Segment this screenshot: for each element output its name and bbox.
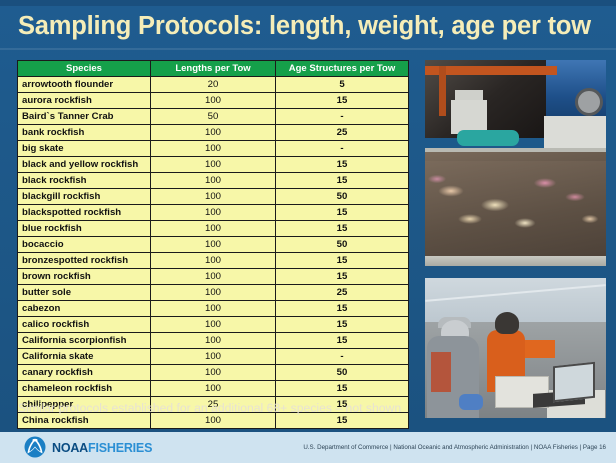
cell-species: black rockfish [18,173,151,189]
footer-meta-text: U.S. Department of Commerce | National O… [303,444,606,451]
cell-lengths-per-tow: 100 [151,301,276,317]
table-row: bronzespotted rockfish10015 [18,253,409,269]
catch-well-wall-lower [425,256,606,266]
cell-age-structures-per-tow: 15 [276,317,409,333]
cell-age-structures-per-tow: 50 [276,237,409,253]
cell-species: bocaccio [18,237,151,253]
table-row: blackspotted rockfish10015 [18,205,409,221]
brand-fisheries-text: FISHERIES [88,441,152,455]
cell-age-structures-per-tow: 15 [276,301,409,317]
cell-lengths-per-tow: 100 [151,125,276,141]
cell-lengths-per-tow: 100 [151,173,276,189]
cell-species: blackspotted rockfish [18,205,151,221]
cell-species: cabezon [18,301,151,317]
table-row: blue rockfish10015 [18,221,409,237]
cell-species: black and yellow rockfish [18,157,151,173]
cell-species: aurora rockfish [18,93,151,109]
orange-sampling-crate [525,340,555,358]
table-row: arrowtooth flounder205 [18,77,409,93]
protocols-table-body: arrowtooth flounder205aurora rockfish100… [18,77,409,429]
table-row: big skate100- [18,141,409,157]
table-header-row: Species Lengths per Tow Age Structures p… [18,61,409,77]
cell-lengths-per-tow: 100 [151,317,276,333]
cell-lengths-per-tow: 100 [151,141,276,157]
deck-bin [451,100,487,134]
scientist-orange-head [495,312,519,334]
cell-age-structures-per-tow: - [276,141,409,157]
slide-caption: Similar protocols established for an add… [18,401,448,415]
cell-lengths-per-tow: 100 [151,269,276,285]
table-row: butter sole10025 [18,285,409,301]
cell-age-structures-per-tow: 15 [276,93,409,109]
cell-age-structures-per-tow: - [276,109,409,125]
cell-lengths-per-tow: 100 [151,253,276,269]
scientists-sampling-photo [425,278,606,418]
table-row: brown rockfish10015 [18,269,409,285]
noaa-fisheries-brand: NOAAFISHERIES [52,441,152,455]
cell-species: bronzespotted rockfish [18,253,151,269]
cell-species: blackgill rockfish [18,189,151,205]
trawl-deck-catch-photo-lower [425,161,606,280]
cell-age-structures-per-tow: 15 [276,173,409,189]
cell-age-structures-per-tow: 5 [276,77,409,93]
slide-title: Sampling Protocols: length, weight, age … [18,6,598,46]
cell-lengths-per-tow: 100 [151,349,276,365]
title-divider [0,48,616,50]
cell-age-structures-per-tow: 25 [276,125,409,141]
column-header-species: Species [18,61,151,77]
cell-age-structures-per-tow: - [276,349,409,365]
table-row: bocaccio10050 [18,237,409,253]
cell-age-structures-per-tow: 15 [276,269,409,285]
cell-species: blue rockfish [18,221,151,237]
brand-noaa-text: NOAA [52,441,88,455]
cell-lengths-per-tow: 100 [151,221,276,237]
vessel-hull [544,116,606,150]
cell-age-structures-per-tow: 15 [276,205,409,221]
teal-net-float [457,130,519,146]
table-row: black rockfish10015 [18,173,409,189]
cell-age-structures-per-tow: 15 [276,333,409,349]
cell-lengths-per-tow: 100 [151,93,276,109]
cell-species: California skate [18,349,151,365]
blue-glove [459,394,483,410]
slide-footer: NOAAFISHERIES U.S. Department of Commerc… [0,432,616,463]
cell-lengths-per-tow: 100 [151,237,276,253]
cell-species: chameleon rockfish [18,381,151,397]
cell-species: California scorpionfish [18,333,151,349]
cell-species: arrowtooth flounder [18,77,151,93]
cell-lengths-per-tow: 50 [151,109,276,125]
cell-species: butter sole [18,285,151,301]
laptop-screen [553,362,595,402]
table-row: California skate100- [18,349,409,365]
cell-species: brown rockfish [18,269,151,285]
cell-lengths-per-tow: 20 [151,77,276,93]
cell-age-structures-per-tow: 15 [276,381,409,397]
table-row: canary rockfish10050 [18,365,409,381]
column-header-lengths-per-tow: Lengths per Tow [151,61,276,77]
cell-age-structures-per-tow: 50 [276,189,409,205]
cell-species: big skate [18,141,151,157]
winch-drum [575,88,603,116]
table-row: black and yellow rockfish10015 [18,157,409,173]
cell-lengths-per-tow: 100 [151,365,276,381]
table-row: California scorpionfish10015 [18,333,409,349]
table-row: calico rockfish10015 [18,317,409,333]
cell-lengths-per-tow: 100 [151,285,276,301]
cell-age-structures-per-tow: 15 [276,157,409,173]
cell-age-structures-per-tow: 25 [276,285,409,301]
table-row: Baird`s Tanner Crab50- [18,109,409,125]
cell-age-structures-per-tow: 50 [276,365,409,381]
slide-canvas: Sampling Protocols: length, weight, age … [0,0,616,463]
noaa-logo-icon [24,436,46,458]
cell-lengths-per-tow: 100 [151,205,276,221]
column-header-age-structures-per-tow: Age Structures per Tow [276,61,409,77]
cell-lengths-per-tow: 100 [151,333,276,349]
protocols-table: Species Lengths per Tow Age Structures p… [17,60,409,429]
cell-species: bank rockfish [18,125,151,141]
cell-lengths-per-tow: 100 [151,157,276,173]
cell-lengths-per-tow: 100 [151,189,276,205]
table-row: bank rockfish10025 [18,125,409,141]
cell-species: Baird`s Tanner Crab [18,109,151,125]
catch-well-fish-closeup [425,161,606,266]
cell-age-structures-per-tow: 15 [276,253,409,269]
table-row: blackgill rockfish10050 [18,189,409,205]
cell-species: calico rockfish [18,317,151,333]
table-row: chameleon rockfish10015 [18,381,409,397]
cell-age-structures-per-tow: 15 [276,221,409,237]
orange-gantry-post [439,66,446,116]
scientist-safety-vest [431,352,451,392]
cell-lengths-per-tow: 100 [151,381,276,397]
cell-species: canary rockfish [18,365,151,381]
table-row: aurora rockfish10015 [18,93,409,109]
protocols-table-container: Species Lengths per Tow Age Structures p… [17,60,408,429]
table-row: cabezon10015 [18,301,409,317]
